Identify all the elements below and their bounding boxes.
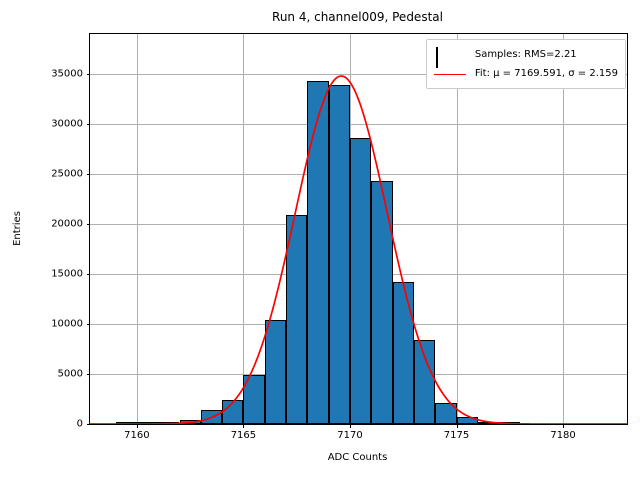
y-tick-label: 5000 bbox=[58, 369, 83, 380]
histogram-bar bbox=[457, 417, 478, 425]
histogram-bar bbox=[435, 403, 456, 424]
legend-item-samples: Samples: RMS=2.21 bbox=[434, 45, 618, 64]
histogram-bar bbox=[286, 215, 307, 424]
histogram-bar bbox=[201, 410, 222, 424]
histogram-bar bbox=[180, 420, 201, 424]
y-tick-mark bbox=[87, 274, 91, 275]
y-axis-label: Entries bbox=[10, 33, 24, 423]
gridline-vertical bbox=[563, 34, 564, 424]
gridline-horizontal bbox=[90, 124, 627, 125]
histogram-bar bbox=[350, 138, 371, 424]
gridline-vertical bbox=[137, 34, 138, 424]
legend-line-icon bbox=[434, 67, 466, 81]
plot-inner bbox=[90, 34, 627, 424]
histogram-bar bbox=[499, 422, 520, 424]
y-tick-mark bbox=[87, 74, 91, 75]
y-tick-mark bbox=[87, 124, 91, 125]
histogram-bar bbox=[158, 422, 179, 424]
legend-label-samples: Samples: RMS=2.21 bbox=[475, 49, 577, 60]
x-tick-mark bbox=[350, 424, 351, 428]
y-axis-label-text: Entries bbox=[12, 211, 23, 246]
legend-patch-icon bbox=[434, 48, 466, 62]
histogram-bar bbox=[478, 422, 499, 425]
chart-legend: Samples: RMS=2.21 Fit: μ = 7169.591, σ =… bbox=[426, 39, 626, 89]
histogram-bar bbox=[393, 282, 414, 424]
histogram-bar bbox=[371, 181, 392, 424]
chart-title: Run 4, channel009, Pedestal bbox=[89, 10, 626, 24]
y-tick-mark bbox=[87, 424, 91, 425]
plot-area: 05000100001500020000250003000035000 7160… bbox=[89, 33, 628, 425]
y-tick-mark bbox=[87, 374, 91, 375]
x-axis-label: ADC Counts bbox=[89, 452, 626, 463]
x-tick-label: 7165 bbox=[231, 430, 256, 441]
histogram-bar bbox=[414, 340, 435, 424]
x-tick-label: 7180 bbox=[550, 430, 575, 441]
y-tick-mark bbox=[87, 174, 91, 175]
y-tick-label: 20000 bbox=[51, 219, 83, 230]
histogram-bar bbox=[307, 81, 328, 424]
histogram-bar bbox=[265, 320, 286, 424]
y-tick-label: 15000 bbox=[51, 269, 83, 280]
histogram-bar bbox=[116, 422, 137, 424]
x-tick-mark bbox=[243, 424, 244, 428]
y-tick-mark bbox=[87, 324, 91, 325]
gridline-vertical bbox=[457, 34, 458, 424]
matplotlib-figure: Run 4, channel009, Pedestal Entries 0500… bbox=[0, 0, 640, 480]
y-tick-label: 25000 bbox=[51, 169, 83, 180]
y-tick-label: 10000 bbox=[51, 319, 83, 330]
y-tick-label: 0 bbox=[77, 419, 83, 430]
histogram-bar bbox=[137, 422, 158, 424]
legend-label-fit: Fit: μ = 7169.591, σ = 2.159 bbox=[475, 68, 618, 79]
x-tick-mark bbox=[457, 424, 458, 428]
y-tick-mark bbox=[87, 224, 91, 225]
y-tick-label: 35000 bbox=[51, 69, 83, 80]
histogram-bar bbox=[329, 85, 350, 424]
histogram-bar bbox=[243, 375, 264, 424]
legend-item-fit: Fit: μ = 7169.591, σ = 2.159 bbox=[434, 64, 618, 83]
x-tick-mark bbox=[563, 424, 564, 428]
y-tick-label: 30000 bbox=[51, 119, 83, 130]
histogram-bar bbox=[222, 400, 243, 424]
x-tick-label: 7170 bbox=[337, 430, 362, 441]
x-tick-label: 7175 bbox=[444, 430, 469, 441]
x-tick-mark bbox=[137, 424, 138, 428]
gridline-vertical bbox=[243, 34, 244, 424]
x-tick-label: 7160 bbox=[124, 430, 149, 441]
